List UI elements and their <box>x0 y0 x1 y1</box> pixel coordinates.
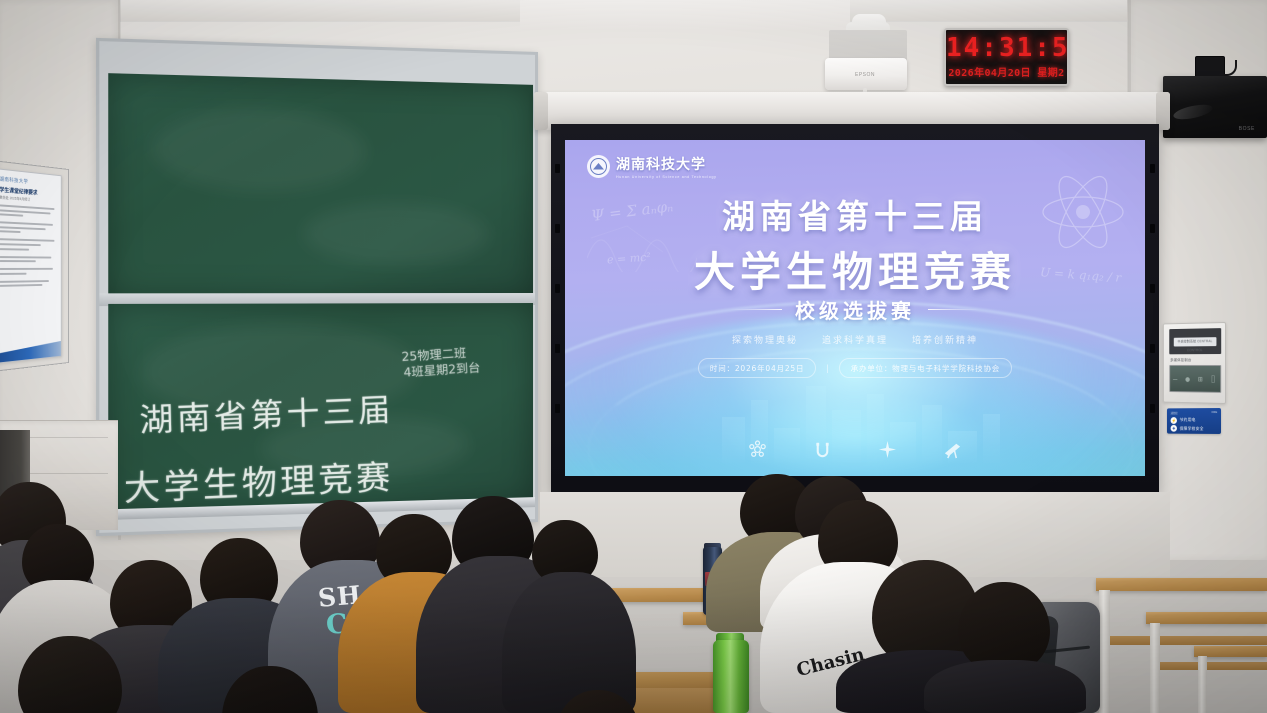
university-emblem-icon <box>587 155 610 178</box>
slide-subtitle: 校级选拔赛 <box>795 295 915 324</box>
safety-sign-text-1: 节约用电 <box>1180 417 1196 423</box>
wall-speaker: BOSE <box>1163 76 1267 138</box>
speaker-brand-label: BOSE <box>1239 126 1255 132</box>
speaker-highlight <box>1172 102 1214 122</box>
beverage-bottle-green <box>713 640 749 713</box>
safety-sign-header-right: FIRE <box>1212 411 1218 415</box>
slide-info-separator: | <box>826 363 828 373</box>
slogan-2: 追求科学真理 <box>822 333 888 346</box>
safety-sign-text-2: 保障学校安全 <box>1180 425 1204 431</box>
slogan-3: 培养创新精神 <box>912 333 978 346</box>
slide-title-line-1: 湖南省第十三届 <box>565 190 1145 238</box>
atom-icon <box>748 440 767 459</box>
control-panel-label: 多媒体控制台 <box>1170 358 1191 363</box>
projector-brand-label: EPSON <box>855 72 875 78</box>
desk-top-right-2 <box>1146 612 1267 624</box>
blackboard: 25物理二班 4班星期2到台 湖南省第十三届 大学生物理竞赛 承办单位：物理与电… <box>96 38 538 536</box>
shield-icon: ✚ <box>1171 425 1177 432</box>
control-display-top[interactable]: 中央控制系统 CENTRAL CONTROL <box>1169 328 1221 354</box>
projected-slide: Ψ = Σ aₙφₙ e = mc² U = k q₁q₂ / r <box>565 140 1145 476</box>
subtitle-rule-left <box>730 309 782 311</box>
sparkle-icon <box>878 440 897 459</box>
media-control-panel[interactable]: 中央控制系统 CENTRAL CONTROL 多媒体控制台 — ● ⊞ ⌷ <box>1163 322 1226 404</box>
slide-info-row: 时间：2026年04月25日 | 承办单位：物理与电子科学学院科技协会 <box>565 358 1145 378</box>
desk-leg <box>1150 623 1160 713</box>
clock-date: 2026年04月20日 星期2 <box>946 64 1067 79</box>
safety-sign-header-left: 消防栓 <box>1171 411 1178 415</box>
desk-shelf <box>1160 662 1267 670</box>
safety-sign-row-2: ✚ 保障学校安全 <box>1171 425 1218 432</box>
subtitle-rule-right <box>928 309 980 311</box>
slogan-1: 探索物理奥秘 <box>732 333 798 346</box>
safety-sign-row-1: ⚡ 节约用电 <box>1171 417 1218 424</box>
slide-time-value: 2026年04月25日 <box>735 364 804 373</box>
desk-shelf <box>1110 636 1267 645</box>
slide-slogans: 探索物理奥秘 追求科学真理 培养创新精神 <box>565 333 1145 346</box>
slide-icon-row <box>565 440 1145 459</box>
control-display-text: 中央控制系统 CENTRAL CONTROL <box>1174 337 1217 346</box>
slide-subtitle-row: 校级选拔赛 <box>565 295 1145 324</box>
university-name-en: Hunan University of Science and Technolo… <box>616 175 717 179</box>
blackboard-upper-panel <box>108 73 533 297</box>
slide-host-value: 物理与电子科学学院科技协会 <box>892 364 1000 373</box>
slide-time-label: 时间： <box>710 364 735 373</box>
projector: EPSON <box>825 58 907 90</box>
slide-host-pill: 承办单位：物理与电子科学学院科技协会 <box>839 358 1012 378</box>
safety-sign-header: 消防栓 FIRE <box>1171 411 1218 415</box>
desk-leg <box>1099 590 1110 713</box>
university-logo: 湖南科技大学 Hunan University of Science and T… <box>587 154 717 179</box>
slide-title-line-2: 大学生物理竞赛 <box>565 238 1145 298</box>
control-readout[interactable]: — ● ⊞ ⌷ <box>1169 365 1221 393</box>
desk-leg <box>1198 656 1207 713</box>
digital-clock: 14:31:57 2026年04月20日 星期2 <box>944 28 1069 86</box>
safety-sign: 消防栓 FIRE ⚡ 节约用电 ✚ 保障学校安全 <box>1167 408 1221 434</box>
clock-time: 14:31:57 <box>946 33 1067 63</box>
university-name-cn: 湖南科技大学 <box>616 154 717 174</box>
slide-time-pill: 时间：2026年04月25日 <box>698 358 816 378</box>
telescope-icon <box>943 440 962 459</box>
magnet-icon <box>813 440 832 459</box>
projection-screen-frame: Ψ = Σ aₙφₙ e = mc² U = k q₁q₂ / r <box>551 124 1159 492</box>
wall-poster: 湖南科技大学 学生课堂纪律要求 教务处 2025年9月修订 <box>0 168 62 364</box>
slide-host-label: 承办单位： <box>851 364 893 373</box>
classroom-scene: 湖南科技大学 学生课堂纪律要求 教务处 2025年9月修订 25物理二班 <box>0 0 1267 713</box>
power-saving-icon: ⚡ <box>1171 417 1177 424</box>
desk-top-right-1 <box>1096 578 1267 591</box>
ceiling-panel <box>520 0 850 30</box>
